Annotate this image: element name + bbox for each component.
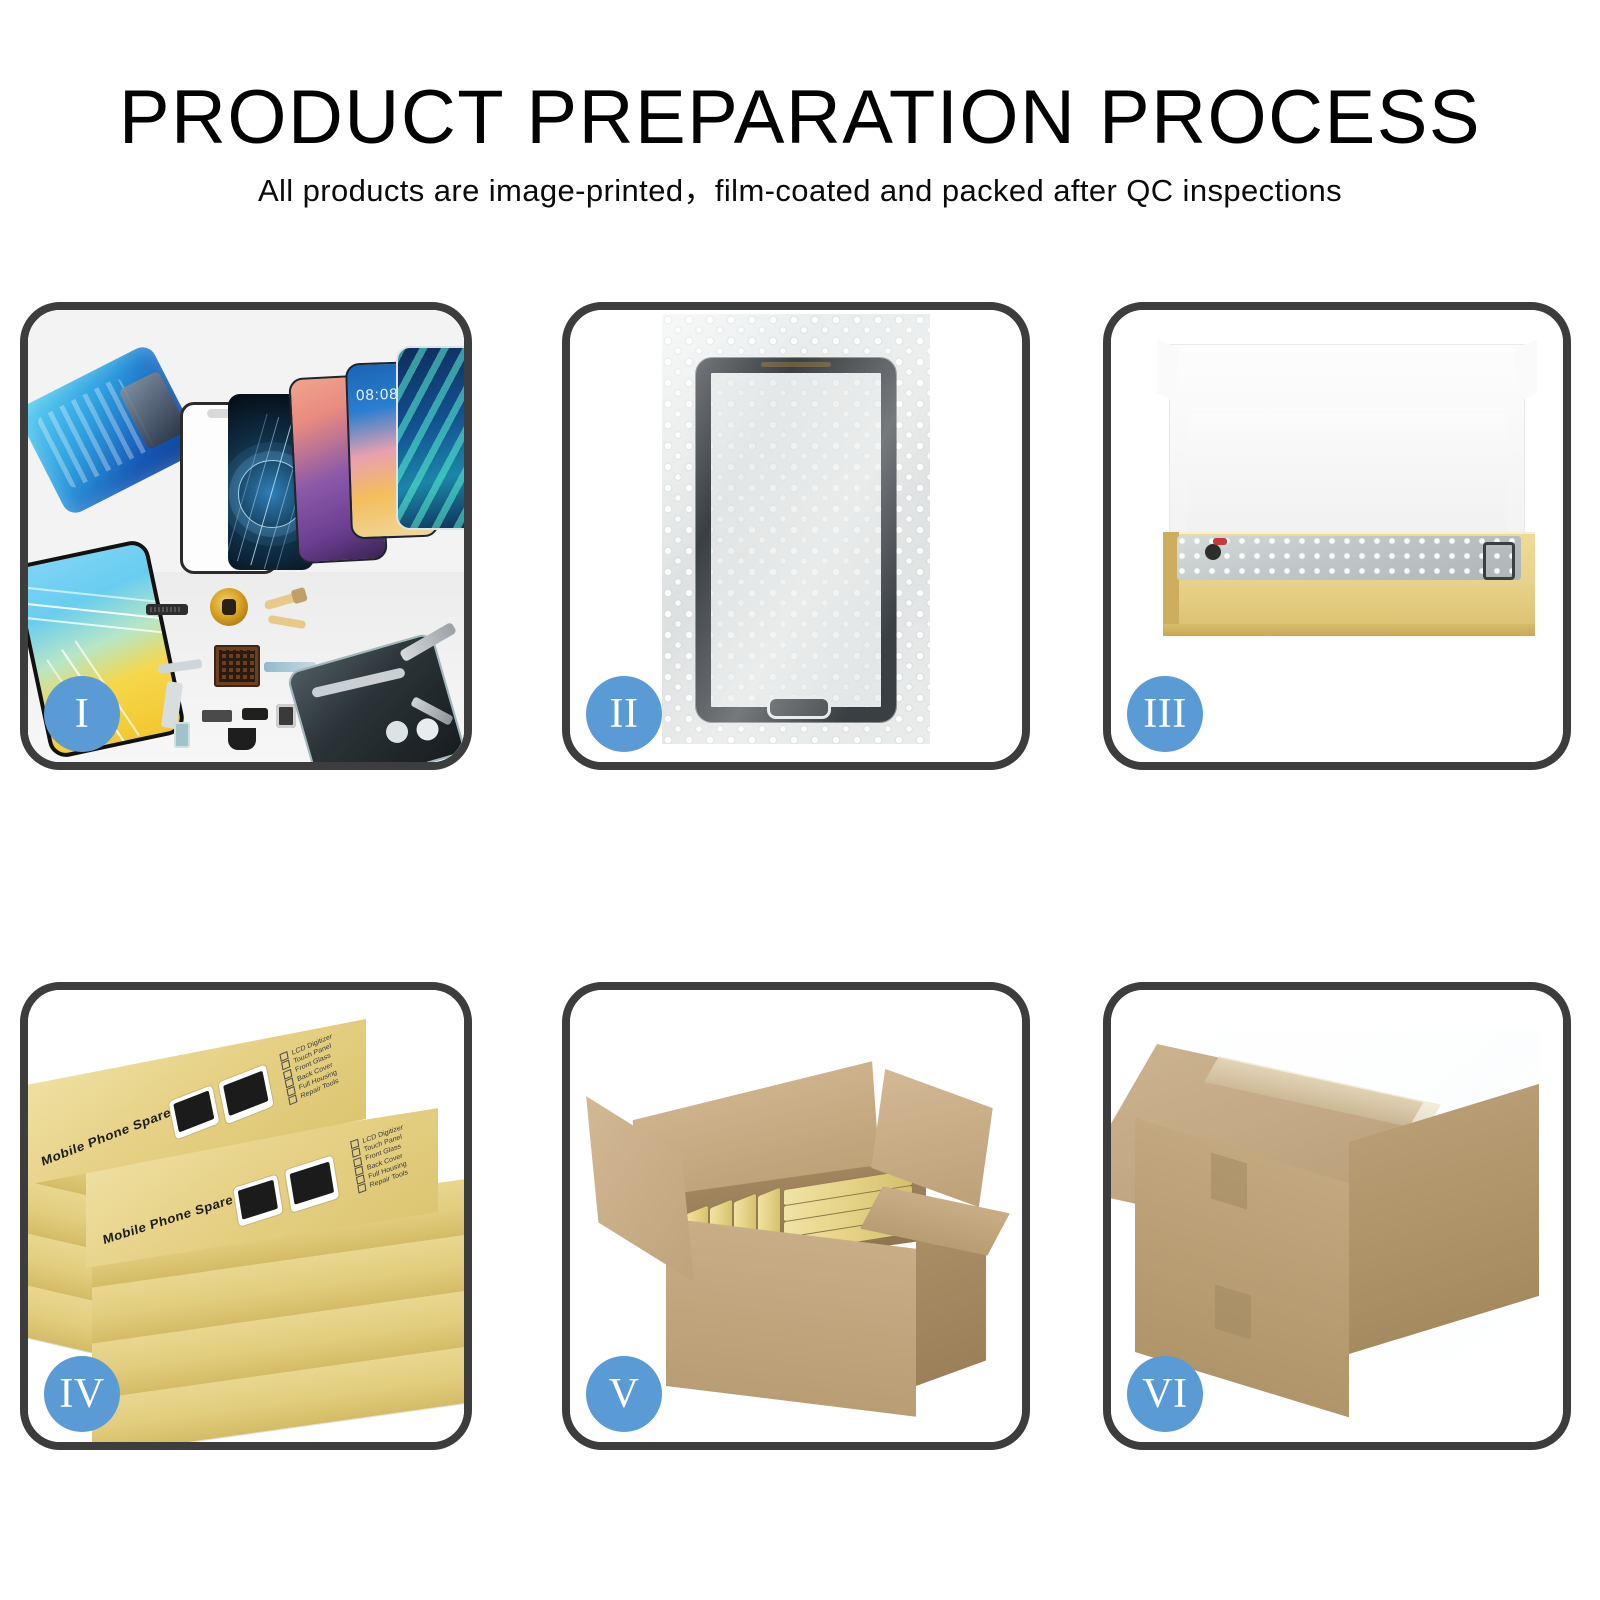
- camera-lens-part: [276, 704, 296, 728]
- red-marker: [1213, 538, 1227, 545]
- retail-box-checklist: LCD Digitizer Touch Panel Front Glass Ba…: [350, 1123, 411, 1195]
- sim-tray-part: [174, 722, 190, 748]
- retail-box-phone-image: [218, 1064, 274, 1124]
- box-inner-wall: [1187, 414, 1507, 544]
- microphone-part: [242, 708, 268, 720]
- retail-box-checklist: LCD Digitizer Touch Panel Front Glass Ba…: [279, 1032, 341, 1106]
- process-step-1[interactable]: 08:08 I: [20, 302, 472, 770]
- button-part: [228, 728, 256, 750]
- bubble-wrap-photo: [662, 314, 930, 744]
- wrapped-screen-assembly: [696, 358, 896, 722]
- speaker-part: [146, 604, 188, 615]
- phone-clock-label: 08:08: [356, 386, 399, 404]
- process-step-6[interactable]: VI: [1103, 982, 1571, 1450]
- step-badge-5: V: [586, 1356, 662, 1432]
- camera-module-part: [210, 588, 248, 626]
- step-badge-1: I: [44, 676, 120, 752]
- packed-screen-item: [1177, 536, 1521, 580]
- connector-dot: [1205, 544, 1221, 560]
- process-step-2[interactable]: II: [562, 302, 1030, 770]
- step-badge-3: III: [1127, 676, 1203, 752]
- retail-box-phone-image: [285, 1155, 339, 1212]
- process-step-4[interactable]: Mobile Phone Spare Parts LCD Digitizer T…: [20, 982, 472, 1450]
- step-badge-6: VI: [1127, 1356, 1203, 1432]
- retail-box-phone-image: [233, 1174, 283, 1226]
- step-badge-2: II: [586, 676, 662, 752]
- process-step-3[interactable]: III: [1103, 302, 1571, 770]
- retail-box-phone-image: [169, 1085, 220, 1140]
- phone-teal-display: [396, 346, 464, 530]
- ic-chip-part: [214, 645, 260, 687]
- step-badge-4: IV: [44, 1356, 120, 1432]
- process-step-5[interactable]: V: [562, 982, 1030, 1450]
- process-step-grid: 08:08 I: [0, 0, 1600, 1600]
- bubble-texture: [1177, 536, 1521, 580]
- carton-front-panel: [666, 1218, 916, 1417]
- small-chip-part: [202, 710, 232, 722]
